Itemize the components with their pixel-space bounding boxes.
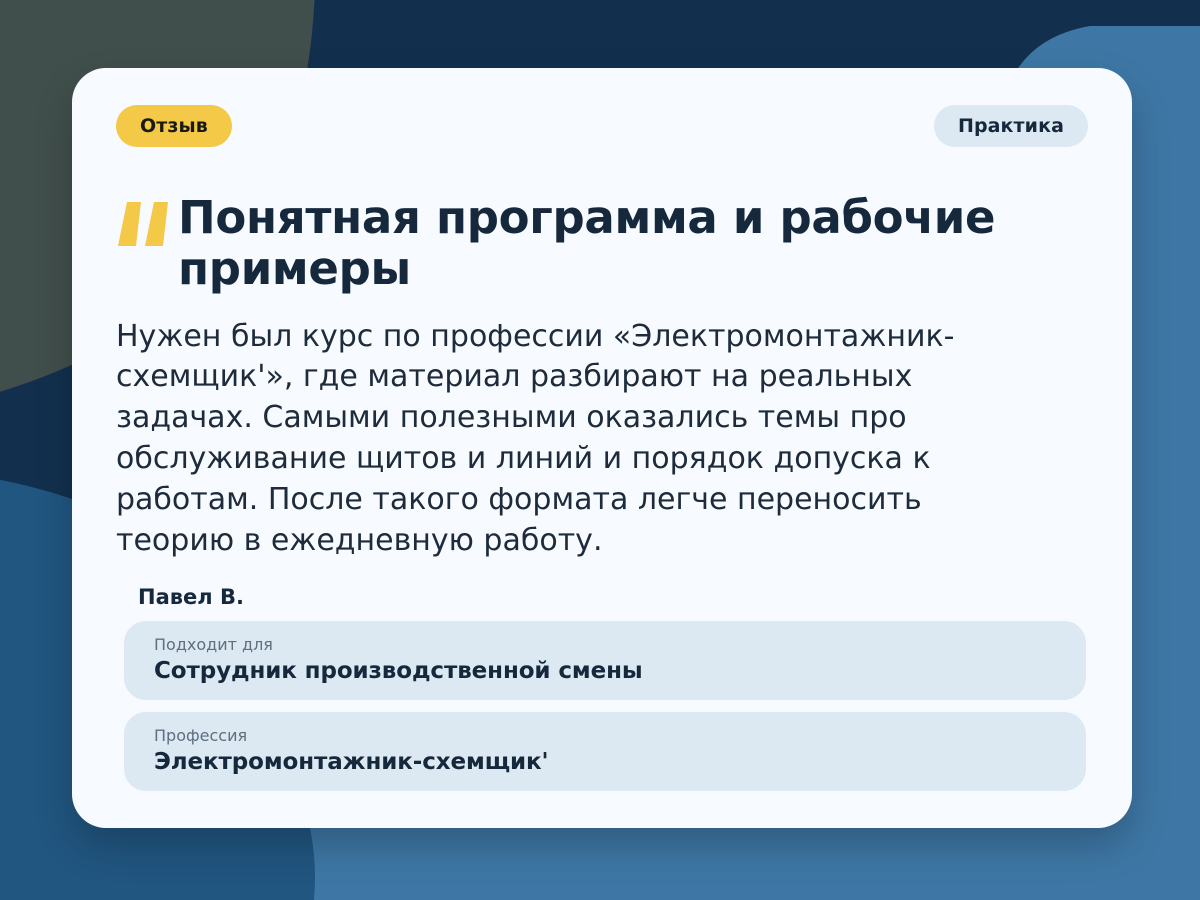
badge-row: Отзыв Практика [116,104,1088,148]
quote-mark-icon [116,200,170,248]
info-row-suitable-for: Подходит для Сотрудник производственной … [124,621,1086,700]
badge-review-kind[interactable]: Отзыв [116,105,232,147]
info-value: Сотрудник производственной смены [154,658,1056,684]
badge-practice-tag[interactable]: Практика [934,105,1088,147]
info-label: Профессия [154,726,1056,745]
review-card: Отзыв Практика Понятная программа и рабо… [72,68,1132,828]
page-title: Понятная программа и рабочие примеры [178,192,1088,295]
info-label: Подходит для [154,635,1056,654]
info-value: Электромонтажник-схемщик' [154,749,1056,775]
review-author-name: Павел В. [138,585,1088,609]
headline-block: Понятная программа и рабочие примеры [116,192,1088,295]
info-row-profession: Профессия Электромонтажник-схемщик' [124,712,1086,791]
review-body-text: Нужен был курс по профессии «Электромонт… [116,317,996,562]
